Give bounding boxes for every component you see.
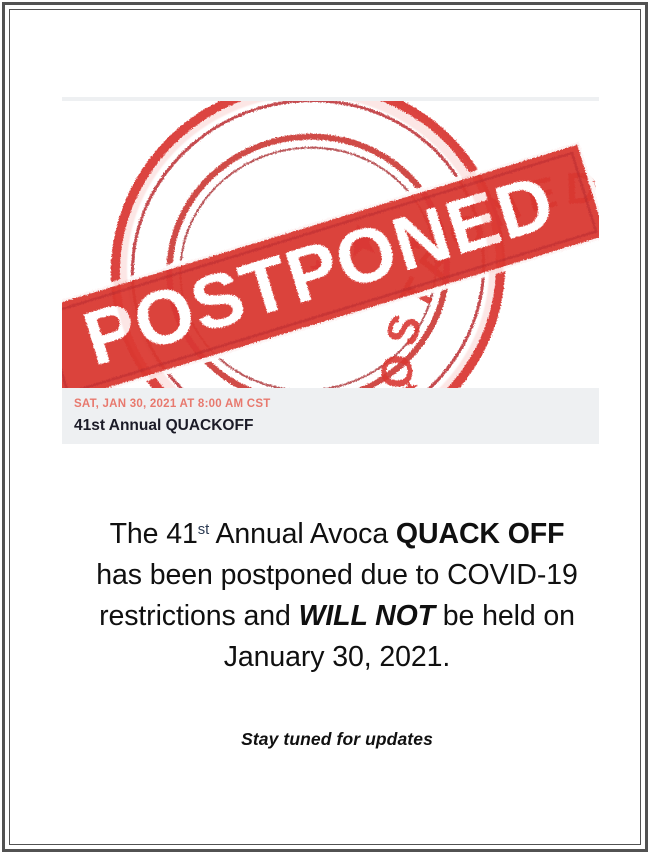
- postponed-stamp-image: POSTPONED POSTPONED: [62, 101, 599, 388]
- announcement-line-3-lead: restrictions and: [99, 600, 298, 632]
- announcement-line-1: The 41st Annual Avoca QUACK OFF: [50, 510, 624, 555]
- announcement-line-3-tail: be held on: [435, 600, 575, 632]
- event-date: SAT, JAN 30, 2021 AT 8:00 AM CST: [74, 396, 599, 412]
- announcement-line-1-lead: The 41: [110, 518, 198, 550]
- announcement-line-2: has been postponed due to COVID-19: [50, 555, 624, 596]
- page-outer-border: POSTPONED POSTPONED: [2, 2, 648, 852]
- page-body: POSTPONED POSTPONED: [10, 10, 640, 844]
- event-card: POSTPONED POSTPONED: [62, 97, 599, 444]
- announcement-line-1-mid: Annual Avoca: [209, 518, 396, 550]
- postponed-stamp-graphic: POSTPONED POSTPONED: [62, 101, 599, 388]
- event-info-bar: SAT, JAN 30, 2021 AT 8:00 AM CST 41st An…: [62, 388, 599, 444]
- announcement-line-3: restrictions and WILL NOT be held on: [50, 596, 624, 637]
- ordinal-superscript: st: [198, 522, 210, 538]
- page-inner-border: POSTPONED POSTPONED: [9, 9, 641, 845]
- event-title: 41st Annual QUACKOFF: [74, 415, 599, 437]
- stay-tuned-note: Stay tuned for updates: [50, 729, 624, 750]
- will-not-emphasis: WILL NOT: [299, 600, 435, 632]
- announcement-text: The 41st Annual Avoca QUACK OFF has been…: [50, 510, 624, 678]
- quack-off-emphasis: QUACK OFF: [396, 518, 565, 550]
- announcement-line-4: January 30, 2021.: [50, 637, 624, 678]
